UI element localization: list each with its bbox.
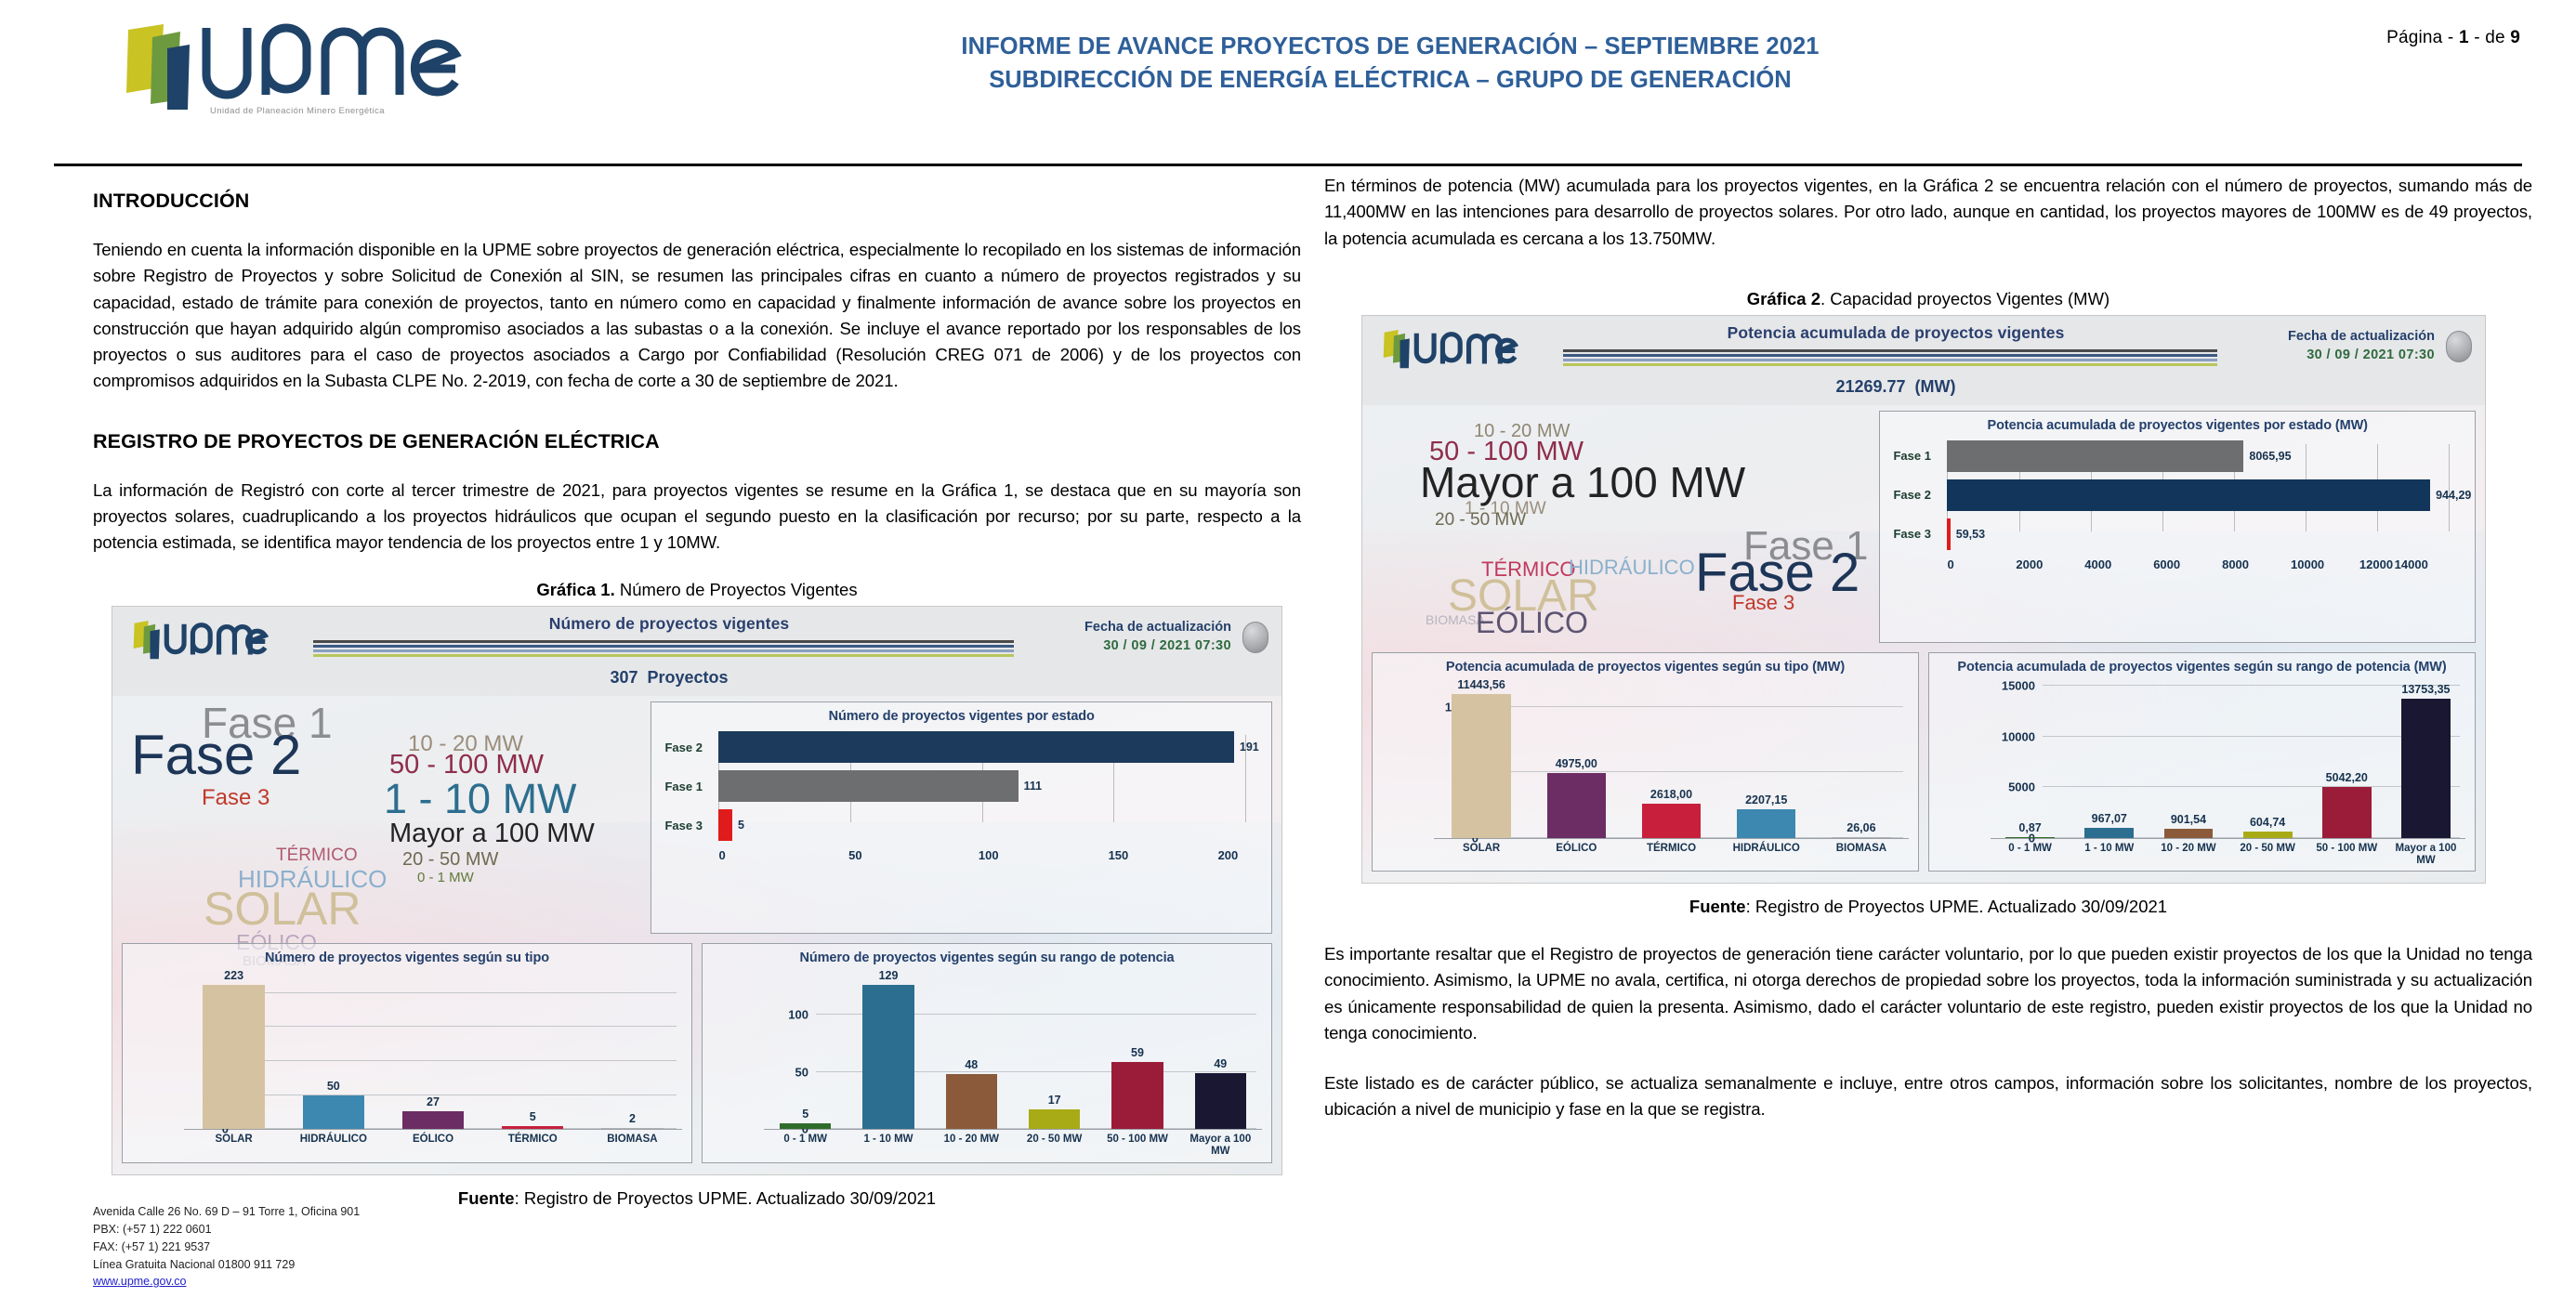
footer-fax: FAX: (+57 1) 221 9537 xyxy=(93,1239,360,1256)
bar-fill xyxy=(2084,828,2134,838)
axis-tick-label: Mayor a 100 MW xyxy=(2386,843,2465,867)
header-divider xyxy=(54,164,2522,166)
dashboard1-header: Número de proyectos vigentes 307 Proyect… xyxy=(112,607,1281,696)
axis-tick-label: 50 xyxy=(848,848,979,862)
axis-tick-label: 20 - 50 MW xyxy=(1013,1134,1096,1158)
axis-tick-label: 4000 xyxy=(2084,557,2153,571)
content-columns: INTRODUCCIÓN Teniendo en cuenta la infor… xyxy=(0,173,2576,1311)
bar-fill xyxy=(2401,699,2451,838)
bar-value-label: 59,53 xyxy=(1956,528,1985,541)
bar-value-label: 17 xyxy=(1048,1094,1061,1107)
bar-value-label: 13753,35 xyxy=(2401,683,2450,696)
dashboard1-date-value: 30 / 09 / 2021 07:30 xyxy=(1084,638,1231,653)
axis-tick-label: 0 - 1 MW xyxy=(764,1134,847,1158)
dashboard2-row-2: Potencia acumulada de proyectos vigentes… xyxy=(1362,652,2485,883)
upme-logo-icon xyxy=(1379,325,1518,375)
chart-title: Potencia acumulada de proyectos vigentes… xyxy=(1373,653,1918,676)
bar-value-label: 604,74 xyxy=(2250,816,2285,829)
dashboard2-header: Potencia acumulada de proyectos vigentes… xyxy=(1362,316,2485,405)
chart-x-axis: 050100150200 xyxy=(718,848,1258,862)
upme-logo-icon xyxy=(110,20,481,110)
axis-tick-label: HIDRÁULICO xyxy=(283,1134,383,1146)
chart-bar-column: 5 xyxy=(483,969,583,1129)
dashboard1-row-1: Fase 1Fase 2Fase 3TÉRMICOHIDRÁULICOSOLAR… xyxy=(112,696,1281,943)
bar-fill xyxy=(2005,837,2055,838)
bar-fill xyxy=(1452,694,1510,838)
bar-value-label: 5042,20 xyxy=(2326,771,2368,784)
chart-bar-column: 49 xyxy=(1179,969,1262,1129)
figure1-source-text: : Registro de Proyectos UPME. Actualizad… xyxy=(515,1188,937,1208)
page-number-of: - de xyxy=(2469,28,2511,47)
chart-bar-column: 5042,20 xyxy=(2307,678,2386,838)
dashboard2-wordcloud: 10 - 20 MW50 - 100 MWMayor a 100 MW1 - 1… xyxy=(1372,411,1879,643)
upme-logo-icon xyxy=(129,616,269,666)
bar-fill xyxy=(718,731,1233,763)
chart-potencia-por-estado: Fase 18065,95Fase 2944,29Fase 359,530200… xyxy=(1880,435,2475,575)
bar-fill xyxy=(1029,1109,1080,1129)
axis-tick-label: 2000 xyxy=(2016,557,2084,571)
dashboard2-total-value: 21269.77 xyxy=(1835,377,1905,396)
wordcloud-term: Fase 3 xyxy=(202,787,269,809)
bar-fill xyxy=(2164,829,2214,838)
figure1-caption-text: Número de Proyectos Vigentes xyxy=(615,580,858,599)
chart-bar-column: 2618,00 xyxy=(1623,678,1718,838)
chart-x-axis: SOLARHIDRÁULICOEÓLICOTÉRMICOBIOMASA xyxy=(184,1129,682,1146)
footer-address-line1: Avenida Calle 26 No. 69 D – 91 Torre 1, … xyxy=(93,1203,360,1221)
bar-value-label: 5 xyxy=(802,1108,808,1121)
bar-fill xyxy=(601,1128,663,1129)
bar-fill xyxy=(402,1111,464,1130)
bar-category-label: Fase 3 xyxy=(664,819,718,832)
axis-tick-label: 10 - 20 MW xyxy=(930,1134,1013,1158)
bar-value-label: 2 xyxy=(629,1112,636,1125)
page-title-line1: INFORME DE AVANCE PROYECTOS DE GENERACIÓ… xyxy=(520,30,2260,63)
bar-fill xyxy=(1947,518,1950,550)
page-title-line2: SUBDIRECCIÓN DE ENERGÍA ELÉCTRICA – GRUP… xyxy=(520,63,2260,97)
panel-numero-por-tipo: Número de proyectos vigentes según su ti… xyxy=(122,943,692,1162)
axis-tick-label: SOLAR xyxy=(184,1134,283,1146)
bar-value-label: 5 xyxy=(738,819,744,832)
wordcloud-term: 1 - 10 MW xyxy=(384,778,577,819)
chart-bar-row: Fase 359,53 xyxy=(1893,518,2462,550)
wordcloud-term: SOLAR xyxy=(204,885,361,932)
bar-fill xyxy=(1642,804,1701,838)
chart-bar-row: Fase 18065,95 xyxy=(1893,440,2462,472)
chart-x-axis: SOLAREÓLICOTÉRMICOHIDRÁULICOBIOMASA xyxy=(1434,838,1909,855)
bar-fill xyxy=(303,1095,364,1130)
bar-value-label: 27 xyxy=(427,1095,440,1108)
potencia-paragraph: En términos de potencia (MW) acumulada p… xyxy=(1324,173,2532,252)
figure2-source-text: : Registro de Proyectos UPME. Actualizad… xyxy=(1746,897,2168,916)
chart-bar-column: 13753,35 xyxy=(2386,678,2465,838)
page-number-current: 1 xyxy=(2459,28,2469,47)
bar-value-label: 11443,56 xyxy=(1457,678,1505,691)
chart-bar-column: 27 xyxy=(383,969,482,1129)
figure2-source: Fuente: Registro de Proyectos UPME. Actu… xyxy=(1324,897,2532,917)
wordcloud-term: 20 - 50 MW xyxy=(1435,511,1526,529)
dashboard2-rule xyxy=(1563,349,2217,366)
section-heading-introduccion: INTRODUCCIÓN xyxy=(93,190,1301,213)
dashboard1-rule xyxy=(313,640,1014,657)
dashboard1-date-area: Fecha de actualización 30 / 09 / 2021 07… xyxy=(1040,607,1281,653)
dashboard2-logo xyxy=(1362,316,1548,380)
axis-tick-label: 0 xyxy=(1947,557,2016,571)
bar-fill xyxy=(718,770,1018,802)
dashboard2-date-value: 30 / 09 / 2021 07:30 xyxy=(2288,347,2435,362)
right-column: En términos de potencia (MW) acumulada p… xyxy=(1324,173,2532,1123)
dashboard1-wordcloud: Fase 1Fase 2Fase 3TÉRMICOHIDRÁULICOSOLAR… xyxy=(122,701,651,934)
bar-value-label: 967,07 xyxy=(2092,812,2127,825)
bar-fill xyxy=(502,1126,563,1130)
dashboard1-row-2: Número de proyectos vigentes según su ti… xyxy=(112,943,1281,1173)
refresh-knob-icon[interactable] xyxy=(1242,622,1268,653)
upme-logo: Unidad de Planeación Minero Energética xyxy=(110,20,500,132)
bar-fill xyxy=(718,809,732,841)
bar-value-label: 901,54 xyxy=(2171,813,2206,826)
chart-bar-column: 901,54 xyxy=(2149,678,2228,838)
panel-potencia-por-estado: Potencia acumulada de proyectos vigentes… xyxy=(1879,411,2476,643)
chart-bar-column: 967,07 xyxy=(2070,678,2149,838)
bar-value-label: 26,06 xyxy=(1847,821,1875,834)
axis-tick-label: TÉRMICO xyxy=(483,1134,583,1146)
wordcloud-term: Fase 2 xyxy=(131,728,301,783)
panel-potencia-por-tipo: Potencia acumulada de proyectos vigentes… xyxy=(1372,652,1919,872)
chart-x-axis: 02000400060008000100001200014000 xyxy=(1947,557,2462,571)
footer-hotline: Línea Gratuita Nacional 01800 911 729 xyxy=(93,1256,360,1274)
chart-bar-column: 11443,56 xyxy=(1434,678,1529,838)
dashboard1-total-unit: Proyectos xyxy=(648,668,729,687)
axis-tick-label: 10 - 20 MW xyxy=(2149,843,2228,867)
figure1-caption: Gráfica 1. Número de Proyectos Vigentes xyxy=(93,580,1301,600)
chart-title: Número de proyectos vigentes según su ti… xyxy=(123,944,691,967)
figure2-source-label: Fuente xyxy=(1689,897,1746,916)
chart-bar-column: 604,74 xyxy=(2228,678,2307,838)
chart-bar-column: 50 xyxy=(283,969,383,1129)
bar-fill xyxy=(1947,479,2430,511)
bar-value-label: 2207,15 xyxy=(1745,793,1787,806)
chart-title: Número de proyectos vigentes por estado xyxy=(651,702,1271,726)
dashboard2-total-unit: (MW) xyxy=(1915,377,1956,396)
axis-tick-label: 10000 xyxy=(2291,557,2359,571)
bar-fill xyxy=(780,1123,831,1129)
dashboard-grafica-2: Potencia acumulada de proyectos vigentes… xyxy=(1361,315,2486,884)
bar-value-label: 4975,00 xyxy=(1556,757,1597,770)
chart-title: Potencia acumulada de proyectos vigentes… xyxy=(1929,653,2475,676)
bar-value-label: 5 xyxy=(530,1110,536,1123)
axis-tick-label: TÉRMICO xyxy=(1623,843,1718,855)
upme-logo-tagline: Unidad de Planeación Minero Energética xyxy=(210,106,500,116)
bar-fill xyxy=(946,1074,997,1129)
bar-value-label: 48 xyxy=(965,1058,978,1071)
chart-x-axis: 0 - 1 MW1 - 10 MW10 - 20 MW20 - 50 MW50 … xyxy=(1991,838,2465,867)
bar-fill xyxy=(1195,1073,1246,1129)
footer-pbx: PBX: (+57 1) 222 0601 xyxy=(93,1221,360,1239)
wordcloud-term: Fase 3 xyxy=(1732,593,1794,613)
wordcloud-term: Mayor a 100 MW xyxy=(389,820,595,847)
figure2-caption-label: Gráfica 2 xyxy=(1747,289,1820,308)
chart-title: Número de proyectos vigentes según su ra… xyxy=(703,944,1271,967)
panel-numero-por-estado: Número de proyectos vigentes por estado … xyxy=(651,701,1272,934)
page-number-label: Página - xyxy=(2386,28,2459,47)
footer-website-link[interactable]: www.upme.gov.co xyxy=(93,1275,187,1288)
chart-bar-column: 4975,00 xyxy=(1529,678,1623,838)
chart-bar-column: 5 xyxy=(764,969,847,1129)
chart-x-axis: 0 - 1 MW1 - 10 MW10 - 20 MW20 - 50 MW50 … xyxy=(764,1129,1262,1158)
bar-fill xyxy=(1832,837,1890,838)
dashboard1-title: Número de proyectos vigentes xyxy=(298,614,1040,634)
bar-category-label: Fase 1 xyxy=(1893,449,1947,463)
panel-potencia-por-rango: Potencia acumulada de proyectos vigentes… xyxy=(1928,652,2476,872)
refresh-knob-icon[interactable] xyxy=(2446,331,2472,362)
wordcloud-term: 20 - 50 MW xyxy=(402,850,498,869)
bar-fill xyxy=(862,985,913,1129)
figure2-caption-text: . Capacidad proyectos Vigentes (MW) xyxy=(1820,289,2109,308)
chart-title: Potencia acumulada de proyectos vigentes… xyxy=(1880,412,2475,435)
dashboard1-title-area: Número de proyectos vigentes 307 Proyect… xyxy=(298,607,1040,688)
dashboard2-row-1: 10 - 20 MW50 - 100 MWMayor a 100 MW1 - 1… xyxy=(1362,405,2485,652)
chart-numero-por-estado: Fase 2191Fase 1111Fase 35050100150200 xyxy=(651,726,1271,866)
bar-category-label: Fase 2 xyxy=(1893,488,1947,502)
wordcloud-term: 0 - 1 MW xyxy=(417,871,474,885)
chart-potencia-por-rango: 0500010000150000,87967,07901,54604,74504… xyxy=(1929,676,2475,871)
axis-tick-label: 0 xyxy=(718,848,848,862)
wordcloud-term: Mayor a 100 MW xyxy=(1420,461,1745,504)
bar-fill xyxy=(1111,1062,1163,1129)
chart-numero-por-rango: 0501005129481759490 - 1 MW1 - 10 MW10 - … xyxy=(703,967,1271,1161)
registro-paragraph: La información de Registró con corte al … xyxy=(93,478,1301,557)
chart-bar-column: 129 xyxy=(847,969,929,1129)
bar-value-label: 191 xyxy=(1240,741,1259,754)
dashboard1-date-label: Fecha de actualización xyxy=(1084,620,1231,635)
axis-tick-label: BIOMASA xyxy=(1814,843,1909,855)
bar-value-label: 50 xyxy=(327,1080,340,1093)
bar-value-label: 59 xyxy=(1131,1046,1144,1059)
section-heading-registro: REGISTRO DE PROYECTOS DE GENERACIÓN ELÉC… xyxy=(93,430,1301,453)
chart-bar-column: 0,87 xyxy=(1991,678,2070,838)
bar-value-label: 944,29 xyxy=(2436,489,2471,502)
dashboard1-logo xyxy=(112,607,298,671)
bar-value-label: 8065,95 xyxy=(2249,450,2291,463)
dashboard2-title-area: Potencia acumulada de proyectos vigentes… xyxy=(1548,316,2243,397)
chart-bar-row: Fase 1111 xyxy=(664,770,1258,802)
bar-category-label: Fase 1 xyxy=(664,780,718,793)
bar-fill xyxy=(1947,440,2243,472)
chart-bar-row: Fase 2191 xyxy=(664,731,1258,763)
dashboard1-total-value: 307 xyxy=(610,668,637,687)
bar-fill xyxy=(2243,832,2293,838)
figure1-caption-label: Gráfica 1. xyxy=(536,580,614,599)
wordcloud-term: EÓLICO xyxy=(1476,608,1588,637)
chart-bar-column: 48 xyxy=(930,969,1013,1129)
axis-tick-label: 50 - 100 MW xyxy=(2307,843,2386,867)
dashboard2-title: Potencia acumulada de proyectos vigentes xyxy=(1548,323,2243,343)
bar-fill xyxy=(203,985,264,1129)
axis-tick-label: Mayor a 100 MW xyxy=(1179,1134,1262,1158)
dashboard2-total: 21269.77 (MW) xyxy=(1548,377,2243,397)
footer-address: Avenida Calle 26 No. 69 D – 91 Torre 1, … xyxy=(93,1203,360,1291)
bar-category-label: Fase 3 xyxy=(1893,527,1947,541)
axis-tick-label: 14000 xyxy=(2395,557,2428,571)
bar-fill xyxy=(1547,773,1606,838)
page-header: Página - 1 - de 9 Unidad de Planeación M… xyxy=(0,0,2576,165)
chart-bar-column: 17 xyxy=(1013,969,1096,1129)
axis-tick-label: 0 - 1 MW xyxy=(1991,843,2070,867)
intro-paragraph: Teniendo en cuenta la información dispon… xyxy=(93,237,1301,395)
bar-fill xyxy=(2322,787,2372,838)
axis-tick-label: HIDRÁULICO xyxy=(1719,843,1814,855)
axis-tick-label: 100 xyxy=(979,848,1109,862)
bar-category-label: Fase 2 xyxy=(664,741,718,754)
axis-tick-label: 20 - 50 MW xyxy=(2228,843,2307,867)
axis-tick-label: EÓLICO xyxy=(383,1134,482,1146)
page-number: Página - 1 - de 9 xyxy=(2386,28,2520,48)
wordcloud-term: TÉRMICO xyxy=(276,846,358,864)
bar-value-label: 223 xyxy=(224,969,243,982)
axis-tick-label: 6000 xyxy=(2153,557,2222,571)
axis-tick-label: EÓLICO xyxy=(1529,843,1623,855)
axis-tick-label: 8000 xyxy=(2222,557,2291,571)
left-column: INTRODUCCIÓN Teniendo en cuenta la infor… xyxy=(93,173,1301,1209)
chart-bar-column: 2207,15 xyxy=(1719,678,1814,838)
chart-bar-row: Fase 2944,29 xyxy=(1893,479,2462,511)
axis-tick-label: 1 - 10 MW xyxy=(2070,843,2149,867)
chart-bar-column: 2 xyxy=(583,969,682,1129)
bar-value-label: 49 xyxy=(1214,1057,1227,1070)
bar-value-label: 111 xyxy=(1024,780,1042,793)
chart-bar-column: 223 xyxy=(184,969,283,1129)
page-title: INFORME DE AVANCE PROYECTOS DE GENERACIÓ… xyxy=(520,30,2260,97)
figure1-source-label: Fuente xyxy=(458,1188,515,1208)
axis-tick-label: 1 - 10 MW xyxy=(847,1134,929,1158)
listado-paragraph: Este listado es de carácter público, se … xyxy=(1324,1070,2532,1123)
bar-value-label: 129 xyxy=(879,969,899,982)
bar-fill xyxy=(1737,809,1795,838)
page-number-total: 9 xyxy=(2510,28,2520,47)
dashboard2-date-area: Fecha de actualización 30 / 09 / 2021 07… xyxy=(2243,316,2485,362)
chart-numero-por-tipo: 050100150200223502752SOLARHIDRÁULICOEÓLI… xyxy=(123,967,691,1149)
figure2-caption: Gráfica 2. Capacidad proyectos Vigentes … xyxy=(1324,289,2532,309)
chart-bar-column: 26,06 xyxy=(1814,678,1909,838)
bar-value-label: 0,87 xyxy=(2018,821,2041,834)
dashboard-grafica-1: Número de proyectos vigentes 307 Proyect… xyxy=(112,606,1282,1174)
axis-tick-label: BIOMASA xyxy=(583,1134,682,1146)
panel-numero-por-rango: Número de proyectos vigentes según su ra… xyxy=(702,943,1272,1162)
chart-bar-column: 59 xyxy=(1096,969,1178,1129)
dashboard2-date-label: Fecha de actualización xyxy=(2288,329,2435,344)
axis-tick-label: SOLAR xyxy=(1434,843,1529,855)
chart-bar-row: Fase 35 xyxy=(664,809,1258,841)
bar-value-label: 2618,00 xyxy=(1650,788,1692,801)
disclaimer-paragraph: Es importante resaltar que el Registro d… xyxy=(1324,941,2532,1046)
dashboard1-total: 307 Proyectos xyxy=(298,668,1040,688)
axis-tick-label: 50 - 100 MW xyxy=(1096,1134,1178,1158)
axis-tick-label: 200 xyxy=(1218,848,1239,862)
chart-potencia-por-tipo: 050001000011443,564975,002618,002207,152… xyxy=(1373,676,1918,859)
